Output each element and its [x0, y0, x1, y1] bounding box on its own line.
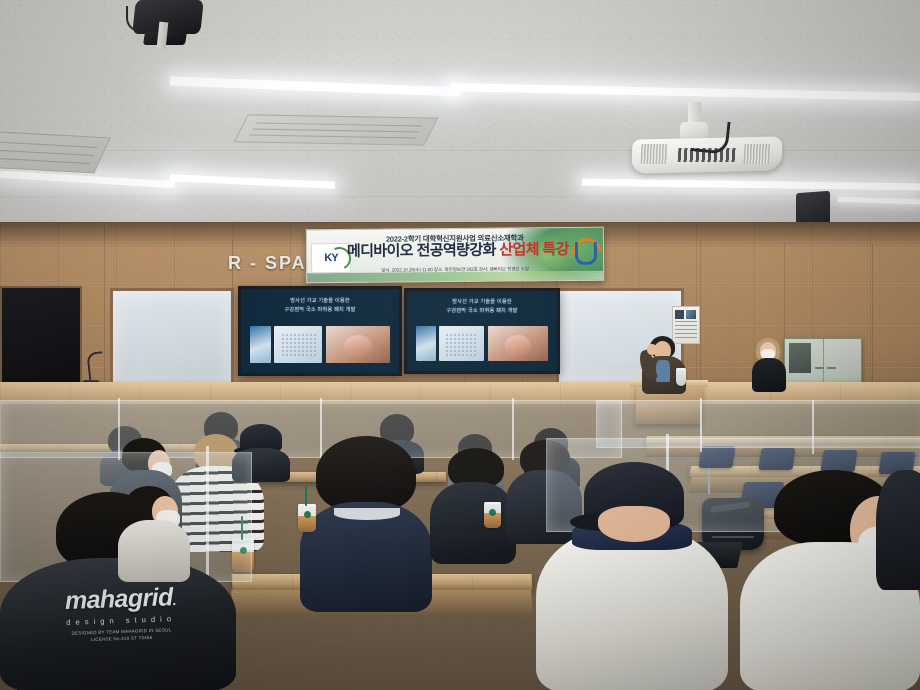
- presenter-hand: [647, 344, 657, 355]
- hoodie-brand-name: mahagrid.: [27, 582, 214, 617]
- projection-screen-left: 방사선 가교 기술을 이용한 구강점막 국소 마취용 패치 개발: [238, 286, 402, 376]
- banner-title: 메디바이오 전공역량강화 산업체 특강: [347, 242, 563, 260]
- u-emblem-icon: [571, 240, 597, 270]
- audience-person: [118, 486, 190, 578]
- ac-vent: [234, 114, 438, 145]
- banner-title-navy: 메디바이오 전공역량강화: [347, 242, 496, 260]
- presenter-shirt: [656, 360, 670, 382]
- iced-coffee-cup: [298, 504, 316, 532]
- ceiling-projector-mount-black-icon: [120, 0, 214, 46]
- torso: [430, 482, 516, 564]
- hoodie-brand-print: mahagrid. design studio DESIGNED BY TEAM…: [27, 582, 215, 650]
- event-banner: KY 2022-2학기 대학혁신지원사업 의료신소재학과 메디바이오 전공역량강…: [306, 227, 604, 284]
- slide-image-c: [488, 326, 548, 361]
- iced-coffee-cup: [484, 502, 501, 528]
- ac-vent: [0, 131, 111, 174]
- slide-image-b: [274, 326, 321, 363]
- ceiling-projector-white-icon: [632, 118, 782, 180]
- wall-seam: [700, 240, 701, 388]
- torso: [876, 470, 920, 590]
- slide-title-line1: 방사선 가교 기술을 이용한: [250, 297, 389, 306]
- hair: [316, 436, 416, 512]
- audience-person: [876, 470, 920, 590]
- slide-title-line2: 구강점막 국소 마취용 패치 개발: [250, 306, 389, 315]
- slide-title-line1: 방사선 가교 기술을 이용한: [416, 298, 548, 307]
- staff-member: [752, 338, 786, 392]
- water-bottle: [676, 368, 686, 386]
- wall-seam: [872, 244, 873, 388]
- slide-title-line2: 구강점막 국소 마취용 패치 개발: [416, 307, 548, 316]
- slide-image-c: [326, 326, 389, 363]
- staff-body: [752, 358, 786, 392]
- banner-title-red: 산업체 특강: [499, 241, 569, 259]
- slide-image-a: [416, 326, 436, 361]
- drinking-straw: [305, 486, 307, 506]
- shirt-collar: [334, 508, 400, 520]
- slide-image-b: [439, 326, 484, 361]
- slide-image-a: [250, 326, 271, 363]
- audience-person-center: [300, 436, 432, 606]
- head: [598, 506, 670, 542]
- audience-person: [430, 448, 516, 560]
- torso: [118, 520, 190, 582]
- audience-person-foreground-center: [536, 462, 728, 690]
- torso-fleece: [536, 528, 728, 690]
- projection-screen-right: 방사선 가교 기술을 이용한 구강점막 국소 마취용 패치 개발: [404, 288, 560, 374]
- whiteboard-left: [110, 288, 234, 390]
- lecture-hall-photo: R - SPACE 방사선 가교 기술을 이용한 구강점막 국소 마취용 패치 …: [0, 0, 920, 690]
